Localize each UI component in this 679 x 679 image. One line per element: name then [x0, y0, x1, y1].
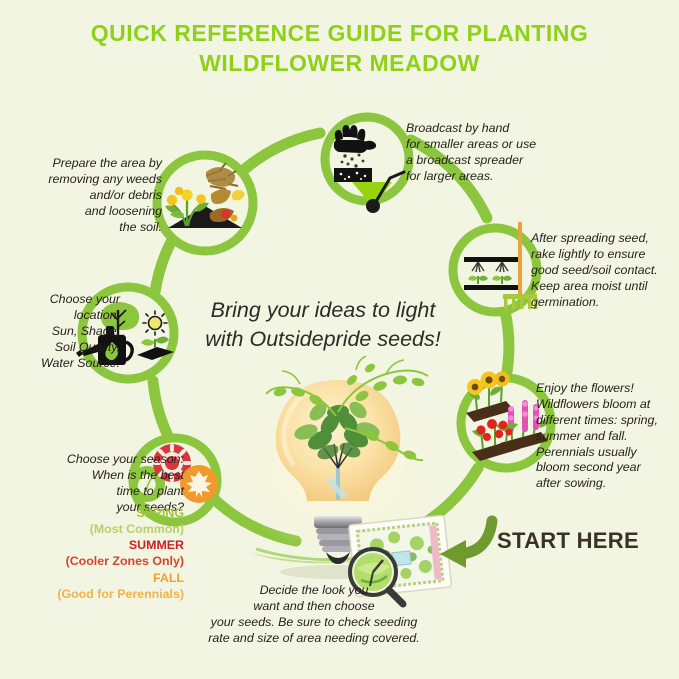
node-broadcast-seed[interactable]: [325, 117, 409, 213]
step-text-enjoy-flowers: Enjoy the flowers! Wildflowers bloom at …: [536, 381, 679, 492]
step-text-decide-look: Decide the look you want and then choose…: [198, 583, 430, 647]
step-text-broadcast-seed: Broadcast by hand for smaller areas or u…: [406, 121, 556, 185]
season-spring-note: (Most Common): [14, 521, 184, 537]
center-tagline: Bring your ideas to light with Outsidepr…: [168, 296, 478, 354]
step-text-rake-lightly: After spreading seed, rake lightly to en…: [531, 231, 677, 310]
season-summer-note: (Cooler Zones Only): [14, 553, 184, 569]
season-summer-label: SUMMER: [14, 537, 184, 553]
step-text-choose-location: Choose your location: Sun, Shade, Soil Q…: [8, 292, 120, 371]
step-text-prepare-area: Prepare the area by removing any weeds a…: [44, 156, 162, 235]
season-spring-label: SPRING: [14, 505, 184, 521]
season-legend: SPRING (Most Common) SUMMER (Cooler Zone…: [14, 505, 184, 602]
node-prepare-area[interactable]: [157, 155, 253, 251]
season-fall-note: (Good for Perennials): [14, 586, 184, 602]
start-here-label: START HERE: [497, 528, 639, 554]
season-fall-label: FALL: [14, 570, 184, 586]
infographic-canvas: QUICK REFERENCE GUIDE FOR PLANTING WILDF…: [0, 0, 679, 679]
